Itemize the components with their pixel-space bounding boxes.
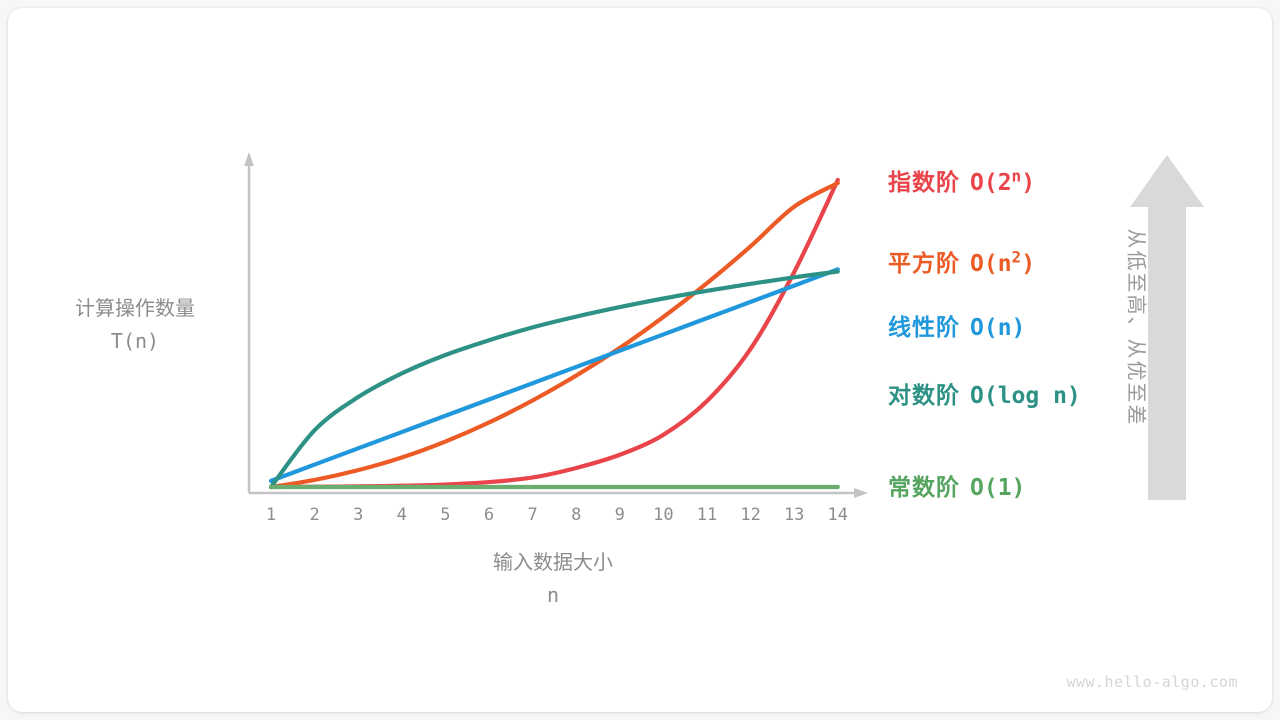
x-tick-2: 2: [295, 505, 335, 525]
legend-label-cn: 平方阶: [888, 250, 960, 276]
legend-item-constant: 常数阶O(1): [888, 468, 1025, 502]
x-tick-14: 14: [818, 505, 858, 525]
legend-label-cn: 指数阶: [888, 169, 960, 195]
x-axis-label-line2: n: [453, 578, 653, 612]
x-tick-4: 4: [382, 505, 422, 525]
legend-label-cn: 常数阶: [888, 474, 960, 500]
x-tick-8: 8: [556, 505, 596, 525]
curve-线性阶 O(n): [271, 269, 838, 481]
curve-指数阶 O(2^n): [271, 180, 838, 487]
legend-item-exponential: 指数阶O(2n): [888, 163, 1035, 197]
curve-group: [271, 180, 838, 487]
legend-label-exponent: 2: [1012, 247, 1022, 266]
x-tick-9: 9: [600, 505, 640, 525]
legend-item-linear: 线性阶O(n): [888, 308, 1025, 342]
x-tick-5: 5: [425, 505, 465, 525]
watermark: www.hello-algo.com: [1066, 673, 1238, 691]
curve-平方阶 O(n^2): [271, 183, 838, 487]
axis-lines: [244, 152, 868, 498]
x-tick-1: 1: [251, 505, 291, 525]
legend-item-quadratic: 平方阶O(n2): [888, 244, 1035, 278]
x-tick-13: 13: [774, 505, 814, 525]
curve-对数阶 O(log n): [271, 271, 838, 487]
legend-label-bigo: O(1): [970, 475, 1025, 501]
ranking-arrow-caption-text: 从低至高、从优至差: [1124, 229, 1211, 427]
y-axis-label: 计算操作数量 T(n): [40, 294, 230, 358]
x-tick-7: 7: [513, 505, 553, 525]
x-tick-3: 3: [338, 505, 378, 525]
legend-label-exponent: n: [1012, 166, 1022, 185]
ranking-arrow-caption: 从低至高、从优至差: [1128, 155, 1206, 500]
complexity-figure: 计算操作数量 T(n) 输入数据大小 n 1234567891011121314…: [0, 0, 1280, 720]
plot-area: [0, 0, 1280, 720]
x-axis-label-line1: 输入数据大小: [453, 548, 653, 578]
y-axis-label-line2: T(n): [40, 324, 230, 358]
x-tick-6: 6: [469, 505, 509, 525]
legend-label-bigo: O(n2): [970, 251, 1035, 277]
x-axis-label: 输入数据大小 n: [453, 548, 653, 612]
x-tick-11: 11: [687, 505, 727, 525]
legend-item-logarithmic: 对数阶O(log n): [888, 376, 1081, 410]
figure-root: 计算操作数量 T(n) 输入数据大小 n 1234567891011121314…: [0, 0, 1280, 720]
x-tick-10: 10: [643, 505, 683, 525]
legend-label-bigo: O(n): [970, 315, 1025, 341]
x-tick-12: 12: [731, 505, 771, 525]
y-axis-label-line1: 计算操作数量: [40, 294, 230, 324]
legend-label-bigo: O(2n): [970, 170, 1035, 196]
legend-label-cn: 对数阶: [888, 382, 960, 408]
legend-label-cn: 线性阶: [888, 314, 960, 340]
legend-label-bigo: O(log n): [970, 383, 1081, 409]
